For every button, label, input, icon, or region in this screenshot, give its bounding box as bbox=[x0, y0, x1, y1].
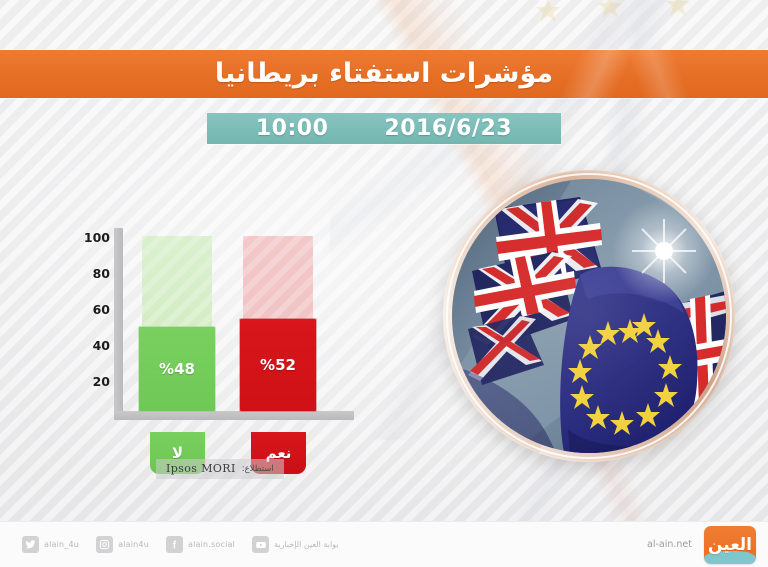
social-links: alain_4u alain4u alain bbox=[22, 536, 339, 553]
facebook-icon[interactable] bbox=[166, 536, 183, 553]
twitter-handle: alain_4u bbox=[44, 540, 79, 549]
photo-ring bbox=[443, 170, 735, 462]
social-item-facebook[interactable]: alain.social bbox=[166, 536, 235, 553]
site-url[interactable]: al-ain.net bbox=[647, 539, 692, 550]
page-title: مؤشرات استفتاء بريطانيا bbox=[215, 50, 553, 98]
youtube-icon[interactable] bbox=[252, 536, 269, 553]
y-tick-40: 40 bbox=[74, 338, 110, 353]
bar-value-yes[interactable]: %52 bbox=[240, 319, 316, 411]
y-tick-60: 60 bbox=[74, 302, 110, 317]
alain-logo[interactable]: العين bbox=[704, 526, 756, 564]
chart-y-axis bbox=[114, 228, 123, 418]
chart-source-chip: استطلاع: Ipsos MORI bbox=[156, 459, 284, 479]
facebook-handle: alain.social bbox=[188, 540, 235, 549]
logo-text: العين bbox=[708, 537, 752, 554]
social-item-instagram[interactable]: alain4u bbox=[96, 536, 149, 553]
y-tick-100: 100 bbox=[74, 230, 110, 245]
instagram-icon[interactable] bbox=[96, 536, 113, 553]
youtube-handle: بوابة العين الإخبارية bbox=[274, 540, 338, 549]
social-item-twitter[interactable]: alain_4u bbox=[22, 536, 79, 553]
bar-value-label-yes: %52 bbox=[260, 356, 296, 374]
source-organization: Ipsos MORI bbox=[166, 462, 236, 475]
date-label: 2016/6/23 bbox=[384, 116, 512, 141]
title-bar: مؤشرات استفتاء بريطانيا bbox=[0, 50, 768, 98]
bar-chart: 100 80 60 40 20 %48 لا %52 نعم bbox=[74, 228, 374, 488]
infographic-poster: مؤشرات استفتاء بريطانيا 10:00 2016/6/23 … bbox=[0, 0, 768, 567]
source-label: استطلاع: bbox=[242, 464, 274, 474]
social-item-youtube[interactable]: بوابة العين الإخبارية bbox=[252, 536, 338, 553]
footer-brand: al-ain.net العين bbox=[647, 526, 756, 564]
chart-x-axis bbox=[114, 411, 354, 420]
bar-value-no[interactable]: %48 bbox=[139, 327, 215, 411]
footer-bar: alain_4u alain4u alain bbox=[0, 521, 768, 567]
bar-value-label-no: %48 bbox=[159, 360, 195, 378]
flags-photo bbox=[452, 179, 726, 453]
twitter-icon[interactable] bbox=[22, 536, 39, 553]
y-tick-80: 80 bbox=[74, 266, 110, 281]
datetime-bar: 10:00 2016/6/23 bbox=[207, 113, 561, 144]
y-tick-20: 20 bbox=[74, 374, 110, 389]
time-label: 10:00 bbox=[256, 116, 329, 141]
instagram-handle: alain4u bbox=[118, 540, 149, 549]
